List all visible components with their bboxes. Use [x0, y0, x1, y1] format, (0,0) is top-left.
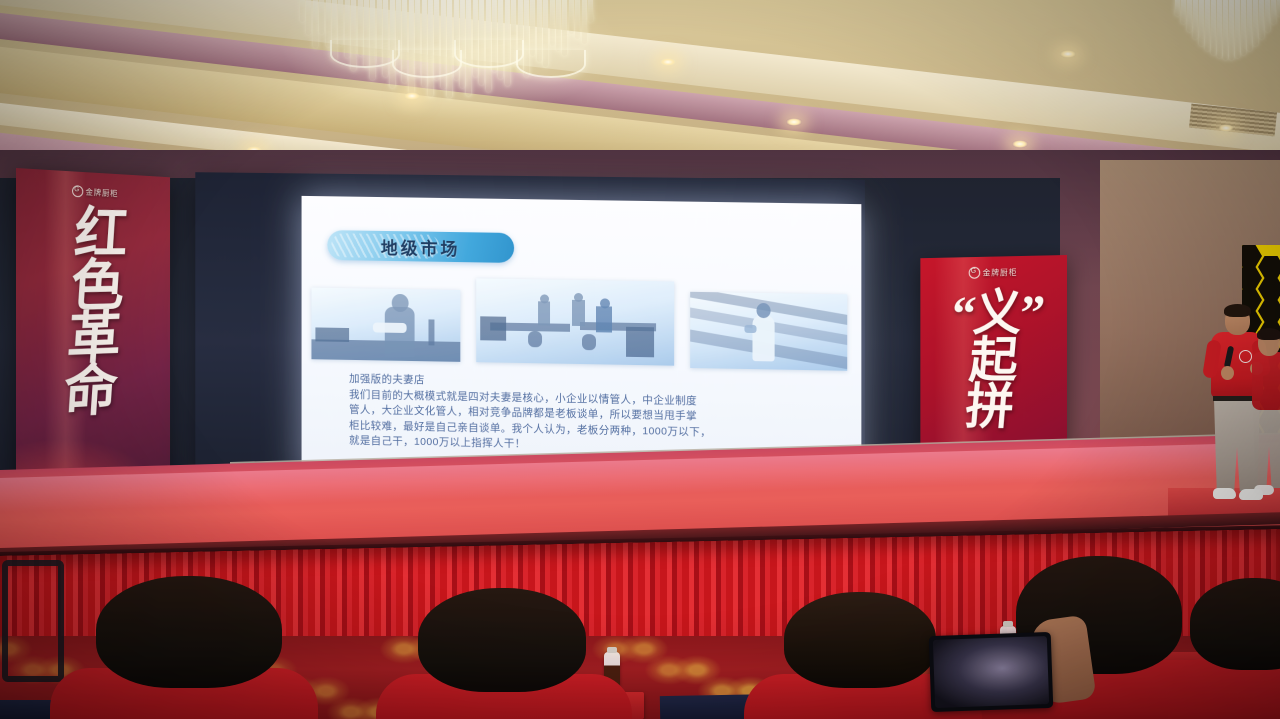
honeycomb-cell: [1258, 278, 1280, 300]
banner-right-logo: G 金牌厨柜: [920, 265, 1067, 280]
chandelier-crystal-rod: [306, 0, 311, 35]
chandelier-crystal-rod: [1259, 0, 1264, 39]
audience-member: [390, 588, 620, 719]
downlight-icon: [660, 58, 676, 66]
calligraphy-char: 起: [920, 336, 1067, 384]
chandelier-crystal-rod: [530, 0, 535, 56]
honeycomb-cell: [1242, 245, 1262, 267]
chandelier-crystal-rod: [556, 0, 561, 51]
presenter-left-hand: [1221, 366, 1234, 380]
chandelier-swag: [516, 50, 586, 78]
chandelier-crystal-rod: [562, 0, 567, 56]
chandelier-crystal-rod: [1187, 0, 1192, 32]
slide-photo-row: [309, 274, 853, 371]
second-person-shoe: [1254, 485, 1274, 495]
chandelier-crystal-rod: [550, 0, 555, 46]
brand-logo-icon: G: [968, 267, 979, 279]
slide-photo-man-reading: [311, 288, 460, 362]
honeycomb-cell: [1242, 267, 1262, 289]
chandelier-crystal-rod: [1247, 0, 1252, 51]
second-person-hair: [1257, 328, 1280, 340]
presenter-hair: [1224, 304, 1251, 317]
chandelier-crystal-rod: [1193, 0, 1198, 39]
chandelier-swag: [330, 40, 400, 68]
chandelier-crystal-rod: [582, 0, 587, 44]
slide-title-banner: 地级市场: [327, 230, 514, 263]
presenter-shirt-logo-icon: [1239, 350, 1252, 363]
audience-member: [60, 576, 310, 719]
chandelier-crystal-rod: [1181, 0, 1186, 24]
second-person-shirt: [1252, 352, 1280, 410]
chandelier-crystal-rod: [338, 0, 343, 46]
chandelier-crystal-rod: [1229, 0, 1234, 60]
calligraphy-char: 红: [19, 207, 170, 261]
second-person-trousers: [1253, 408, 1280, 488]
audience-member: [1180, 578, 1280, 719]
chandelier-crystal-rod: [1205, 0, 1210, 51]
presenter-shoe-left: [1213, 488, 1236, 499]
slide-photo-office: [476, 278, 674, 365]
chandelier-crystal-rod: [575, 0, 580, 39]
recording-phone: [929, 632, 1054, 712]
phone-screen: [933, 636, 1049, 708]
carpet-motif: [323, 695, 379, 719]
downlight-icon: [404, 92, 420, 100]
calligraphy-char: “义”: [922, 289, 1067, 338]
chandelier-crystal-rod: [1175, 0, 1180, 16]
downlight-icon: [1218, 124, 1234, 132]
chandelier-crystal-rod: [1211, 0, 1216, 55]
second-person-standing: [1252, 330, 1280, 500]
slide-photo-woman-tablet: [690, 292, 847, 371]
chandelier-crystal-rod: [1265, 0, 1270, 32]
banner-left-logo: G 金牌厨柜: [16, 182, 170, 202]
downlight-icon: [1012, 140, 1028, 148]
chandelier-crystal-rod: [319, 0, 324, 34]
carpet-motif: [641, 653, 697, 687]
chandelier-swag: [392, 50, 462, 78]
chandelier-crystal-rod: [1199, 0, 1204, 46]
chandelier-crystal-rod: [588, 0, 593, 22]
chair-back: [2, 560, 64, 682]
slide-body-text: 加强版的夫妻店 我们目前的大概模式就是四对夫妻是核心，小企业以情管人，中企业制度…: [349, 372, 819, 458]
conference-hall-photo: G 金牌厨柜 红 色 革 命 地级市场: [0, 0, 1280, 719]
chandelier-crystal-rod: [447, 0, 452, 98]
honeycomb-cell: [1258, 256, 1280, 278]
banner-right-logo-text: 金牌厨柜: [983, 266, 1018, 278]
chandelier-crystal-rod: [313, 0, 318, 48]
banner-left-calligraphy: 红 色 革 命: [16, 207, 170, 423]
calligraphy-char: 拼: [920, 384, 1065, 432]
calligraphy-char: 命: [16, 361, 167, 422]
chandelier-crystal-rod: [1217, 0, 1222, 58]
crystal-chandelier-secondary: [1175, 0, 1280, 86]
chandelier-crystal-rod: [428, 0, 433, 97]
chandelier-crystal-rod: [300, 0, 305, 22]
chandelier-swag: [454, 40, 524, 68]
brand-logo-icon: G: [72, 185, 83, 197]
banner-left: G 金牌厨柜 红 色 革 命: [16, 168, 170, 506]
slide-title-text: 地级市场: [381, 233, 460, 259]
chandelier-crystal-rod: [1241, 0, 1246, 55]
downlight-icon: [1060, 50, 1076, 58]
downlight-icon: [786, 118, 802, 126]
chandelier-crystal-rod: [409, 0, 414, 94]
chandelier-crystal-rod: [1271, 0, 1276, 24]
banner-left-logo-text: 金牌厨柜: [86, 186, 119, 198]
crystal-chandelier: [300, 0, 600, 108]
chandelier-crystal-rod: [569, 0, 574, 34]
chandelier-crystal-rod: [1223, 0, 1228, 60]
chandelier-crystal-rod: [1253, 0, 1258, 46]
banner-right-calligraphy: “义” 起 拼: [920, 289, 1067, 432]
chandelier-crystal-rod: [1235, 0, 1240, 58]
